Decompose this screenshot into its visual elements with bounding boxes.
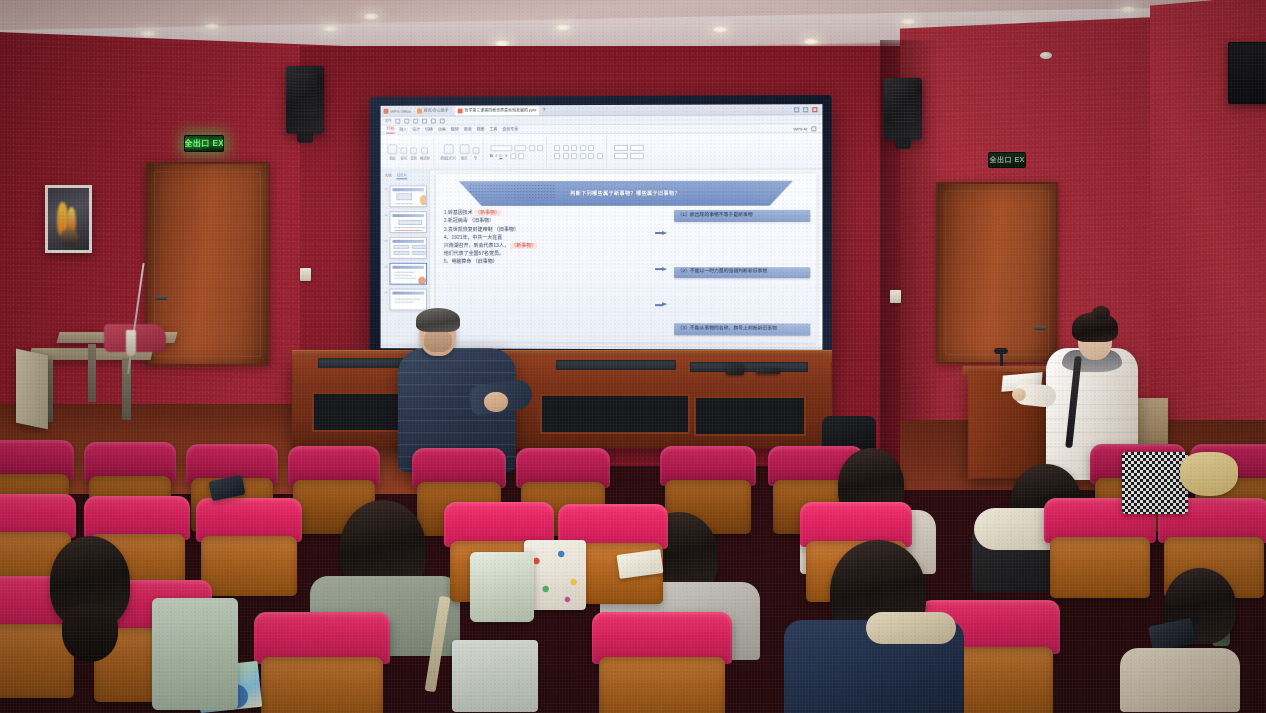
align-left-icon[interactable] bbox=[554, 153, 560, 159]
wps-logo-label: WPS Office bbox=[390, 108, 410, 113]
align-row bbox=[554, 144, 602, 150]
arrange-icon[interactable] bbox=[630, 144, 644, 150]
console-slot bbox=[556, 360, 676, 370]
slide-conclusions-column: （1）新出现的事物不等于是新事物 （2）不能以一时力量的强弱判断新旧事物 （3）… bbox=[675, 209, 817, 338]
example-line: 1.转基因技术 （新事物） bbox=[444, 211, 646, 217]
downlight bbox=[900, 18, 916, 25]
align-row-2 bbox=[554, 152, 602, 158]
bullets-icon[interactable] bbox=[554, 145, 560, 151]
smoke-detector bbox=[1040, 52, 1052, 59]
example-line: 3.袁世凯恢复封建帝制 （旧事物） bbox=[444, 228, 646, 234]
thumbnail-number: 15 bbox=[383, 289, 388, 295]
ribbon-tab-member[interactable]: 会员专享 bbox=[502, 126, 518, 132]
format-painter-button[interactable]: 格式刷 bbox=[420, 147, 429, 160]
desk-remote[interactable] bbox=[756, 368, 780, 374]
scissors-icon bbox=[400, 147, 407, 154]
example-line: 5、电脑算命 （旧事物） bbox=[444, 260, 646, 266]
seat[interactable] bbox=[254, 612, 390, 713]
downlight bbox=[140, 30, 156, 37]
slide-thumbnail[interactable] bbox=[389, 237, 427, 259]
line-spacing-icon[interactable] bbox=[588, 145, 594, 151]
draped-coat bbox=[470, 552, 534, 622]
exit-sign-left-text: 安全出口 EXIT bbox=[184, 138, 224, 149]
example-tag: （新事物） bbox=[510, 243, 537, 249]
ceiling-speaker-left bbox=[286, 66, 324, 134]
new-slide-button[interactable]: 新建幻灯片 bbox=[440, 144, 456, 160]
arrow-right-icon bbox=[655, 231, 667, 236]
thumbnail-number: 12 bbox=[383, 211, 388, 217]
new-tab-button[interactable]: + bbox=[543, 107, 547, 113]
print-icon[interactable] bbox=[422, 118, 427, 123]
tab-icon bbox=[417, 108, 422, 113]
underline-icon[interactable]: U bbox=[499, 153, 502, 158]
arrow-right-icon bbox=[655, 267, 667, 272]
exit-sign-left: 安全出口 EXIT bbox=[184, 135, 224, 152]
decrease-font-icon[interactable] bbox=[537, 145, 543, 151]
wps-ai-button[interactable]: WPS AI bbox=[793, 126, 807, 131]
ribbon-tab-insert[interactable]: 插入 bbox=[399, 127, 407, 133]
wall-vent-right bbox=[1228, 42, 1266, 104]
copy-button[interactable]: 复制 bbox=[410, 147, 417, 160]
ribbon-tab-transitions[interactable]: 切换 bbox=[425, 127, 433, 133]
align-center-icon[interactable] bbox=[563, 153, 569, 159]
example-line: 他们代表了全国57名党员。 bbox=[444, 252, 646, 258]
browser-tab-presentation[interactable]: 哲学第三课第四框世界是永恒发展的.pptx bbox=[454, 106, 539, 115]
downlight bbox=[803, 38, 819, 45]
door-right[interactable] bbox=[936, 182, 1058, 364]
example-line: 兴南湖召开，到会代表13人， （新事物） bbox=[444, 244, 646, 250]
lecture-hall-photo: 安全出口 EXIT 安全出口 EXIT WPS Office bbox=[0, 0, 1266, 713]
exit-sign-right: 安全出口 EXIT bbox=[988, 152, 1026, 168]
tote-bag[interactable] bbox=[452, 640, 538, 712]
ribbon-group-clipboard: 粘贴 剪切 复制 格式刷 bbox=[385, 137, 434, 167]
assistant-hand bbox=[1012, 388, 1026, 401]
stage-panel bbox=[540, 394, 690, 434]
undo-icon[interactable] bbox=[396, 118, 401, 123]
draped-coat bbox=[152, 598, 238, 710]
thumbnail-number: 14 bbox=[383, 263, 388, 269]
thumbnail-number: 11 bbox=[383, 185, 388, 191]
example-tag: （旧事物） bbox=[494, 227, 519, 233]
checkered-bag[interactable] bbox=[1122, 452, 1188, 514]
slide-thumbnail[interactable] bbox=[389, 185, 427, 207]
panel-tab-slides[interactable]: 幻灯片 bbox=[397, 173, 408, 179]
numbering-icon[interactable] bbox=[563, 145, 569, 151]
find-replace-icon[interactable] bbox=[630, 152, 644, 158]
desk-control-box[interactable] bbox=[726, 364, 744, 375]
window-controls bbox=[794, 107, 819, 112]
italic-icon[interactable]: I bbox=[495, 153, 496, 158]
browser-tab-home[interactable]: 首页/办公助手 bbox=[414, 106, 452, 115]
ribbon-tab-view[interactable]: 视图 bbox=[477, 126, 485, 132]
assistant-hair-bun bbox=[1092, 306, 1110, 320]
desk-side-panel bbox=[16, 349, 48, 430]
ribbon-tab-animations[interactable]: 动画 bbox=[438, 126, 446, 132]
arrow-right-icon bbox=[655, 303, 667, 308]
slide-title-text: 判断下列哪些属于新事物？哪些属于旧事物？ bbox=[570, 190, 680, 197]
cut-button[interactable]: 剪切 bbox=[400, 147, 407, 160]
slide-arrow-column bbox=[648, 209, 675, 337]
columns-icon[interactable] bbox=[597, 152, 603, 158]
thumbnail-number: 13 bbox=[383, 237, 388, 243]
slide-edit-area[interactable]: 判断下列哪些属于新事物？哪些属于旧事物？ 1.转基因技术 （新事物） 2.新冠病… bbox=[430, 170, 822, 347]
ribbon-tab-home[interactable]: 开始 bbox=[386, 126, 394, 134]
mop-head bbox=[126, 330, 136, 356]
downlight bbox=[712, 26, 728, 33]
copy-icon bbox=[410, 147, 417, 154]
ribbon-group-drawing bbox=[610, 136, 647, 166]
print-preview-icon[interactable] bbox=[431, 118, 436, 123]
ribbon: 粘贴 剪切 复制 格式刷 bbox=[381, 133, 823, 170]
thumbnail-item[interactable]: 15 bbox=[383, 289, 427, 311]
section-icon bbox=[472, 147, 479, 154]
fleece-collar bbox=[866, 612, 956, 644]
layout-button[interactable]: 版式 bbox=[459, 144, 469, 160]
downlight bbox=[204, 23, 220, 30]
font-size-dropdown[interactable] bbox=[514, 145, 526, 151]
shapes-row bbox=[614, 144, 645, 150]
ribbon-group-font: B I U S bbox=[487, 137, 547, 167]
close-button[interactable] bbox=[812, 107, 817, 112]
wps-logo[interactable]: WPS Office bbox=[384, 108, 411, 113]
browser-tab-home-label: 首页/办公助手 bbox=[424, 108, 449, 114]
quick-styles-icon[interactable] bbox=[614, 152, 628, 158]
stage-panel bbox=[694, 396, 806, 436]
ribbon-tab-review[interactable]: 审阅 bbox=[464, 126, 472, 132]
example-line: 2.新冠病毒 （旧事物） bbox=[444, 219, 646, 225]
new-slide-icon bbox=[443, 144, 453, 154]
conclusion-box: （1）新出现的事物不等于是新事物 bbox=[675, 210, 811, 222]
align-right-icon[interactable] bbox=[571, 153, 577, 159]
save-icon[interactable] bbox=[413, 118, 418, 123]
chevron-down-icon[interactable] bbox=[440, 118, 445, 123]
font-row bbox=[490, 145, 543, 151]
brush-icon bbox=[421, 147, 428, 154]
wall-outlet-right[interactable] bbox=[890, 290, 901, 303]
downlight bbox=[363, 13, 379, 20]
slide-thumbnail[interactable] bbox=[389, 289, 427, 311]
desk-leg bbox=[88, 344, 96, 402]
beanie-hat bbox=[1180, 452, 1238, 496]
font-family-dropdown[interactable] bbox=[490, 145, 512, 151]
slide-thumbnail[interactable] bbox=[389, 263, 427, 285]
redo-icon[interactable] bbox=[404, 118, 409, 123]
example-tag: （新事物） bbox=[474, 210, 501, 216]
indent-increase-icon[interactable] bbox=[580, 145, 586, 151]
font-style-row: B I U S bbox=[490, 153, 543, 159]
ribbon-tab-tools[interactable]: 工具 bbox=[489, 126, 497, 132]
console-slot bbox=[690, 362, 808, 372]
conclusion-box: （2）不能以一时力量的强弱判断新旧事物 bbox=[675, 267, 811, 279]
thumbnail-item[interactable]: 12 bbox=[383, 211, 427, 233]
example-tag: （旧事物） bbox=[469, 218, 494, 224]
microphone-head bbox=[994, 348, 1008, 354]
dot-pattern-decoration bbox=[468, 184, 554, 200]
ceiling-speaker-right bbox=[884, 78, 922, 140]
conclusion-box: （3）不能从事物的名称、旗号上判断新旧事物 bbox=[675, 324, 811, 336]
presenter-face-shadow bbox=[424, 330, 452, 352]
presenter-hair bbox=[416, 308, 460, 332]
ribbon-group-slides: 新建幻灯片 版式 节 bbox=[437, 137, 483, 167]
panel-tab-outline[interactable]: 大纲 bbox=[385, 173, 392, 179]
slide-content-columns: 1.转基因技术 （新事物） 2.新冠病毒 （旧事物） 3.袁世凯恢复封建帝制 （… bbox=[436, 209, 816, 338]
section-button[interactable]: 节 bbox=[472, 147, 479, 160]
paste-icon bbox=[387, 144, 397, 154]
increase-font-icon[interactable] bbox=[529, 145, 535, 151]
layout-icon bbox=[459, 144, 469, 154]
highlight-icon[interactable] bbox=[518, 153, 524, 159]
bold-icon[interactable]: B bbox=[490, 153, 493, 158]
wall-outlet-left[interactable] bbox=[300, 268, 311, 281]
ribbon-tab-design[interactable]: 设计 bbox=[412, 127, 420, 133]
text-direction-icon[interactable] bbox=[588, 153, 594, 159]
thumbnail-item[interactable]: 13 bbox=[383, 237, 427, 259]
thumbnail-item-active[interactable]: 14 bbox=[383, 263, 427, 285]
panel-tab-strip: 大纲 幻灯片 bbox=[383, 173, 427, 181]
slide-examples-column: 1.转基因技术 （新事物） 2.新冠病毒 （旧事物） 3.袁世凯恢复封建帝制 （… bbox=[436, 209, 648, 337]
downlight bbox=[1120, 6, 1136, 13]
paste-button[interactable]: 粘贴 bbox=[387, 144, 397, 160]
justify-icon[interactable] bbox=[580, 153, 586, 159]
search-icon[interactable] bbox=[811, 126, 816, 131]
slide-thumbnail[interactable] bbox=[389, 211, 427, 233]
indent-decrease-icon[interactable] bbox=[571, 145, 577, 151]
ponytail bbox=[62, 604, 118, 662]
presenter-hand bbox=[484, 392, 508, 412]
maximize-button[interactable] bbox=[803, 107, 808, 112]
ribbon-group-paragraph bbox=[551, 136, 606, 166]
current-slide[interactable]: 判断下列哪些属于新事物？哪些属于旧事物？ 1.转基因技术 （新事物） 2.新冠病… bbox=[436, 174, 816, 343]
example-tag: （旧事物） bbox=[473, 259, 498, 265]
audience-sleeve bbox=[1120, 648, 1240, 712]
ppt-file-icon bbox=[457, 108, 462, 113]
downlight bbox=[555, 24, 571, 31]
ribbon-tab-slideshow[interactable]: 放映 bbox=[451, 126, 459, 132]
browser-tab-presentation-label: 哲学第三课第四框世界是永恒发展的.pptx bbox=[464, 107, 536, 113]
minimize-button[interactable] bbox=[794, 107, 799, 112]
thumbnail-item[interactable]: 11 bbox=[383, 185, 427, 207]
downlight bbox=[322, 25, 338, 32]
slide-title-banner: 判断下列哪些属于新事物？哪些属于旧事物？ bbox=[458, 180, 793, 206]
strikethrough-icon[interactable]: S bbox=[505, 153, 507, 158]
shapes-icon[interactable] bbox=[614, 144, 628, 150]
qat-file-menu[interactable]: 文件 bbox=[385, 118, 392, 123]
example-line: 4、1921年，中共一大在嘉 bbox=[444, 236, 646, 242]
seat[interactable] bbox=[592, 612, 732, 713]
text-color-icon[interactable] bbox=[510, 153, 516, 159]
editing-row bbox=[614, 152, 645, 158]
exit-sign-right-text: 安全出口 EXIT bbox=[988, 155, 1026, 165]
wall-painting-left bbox=[45, 185, 92, 253]
